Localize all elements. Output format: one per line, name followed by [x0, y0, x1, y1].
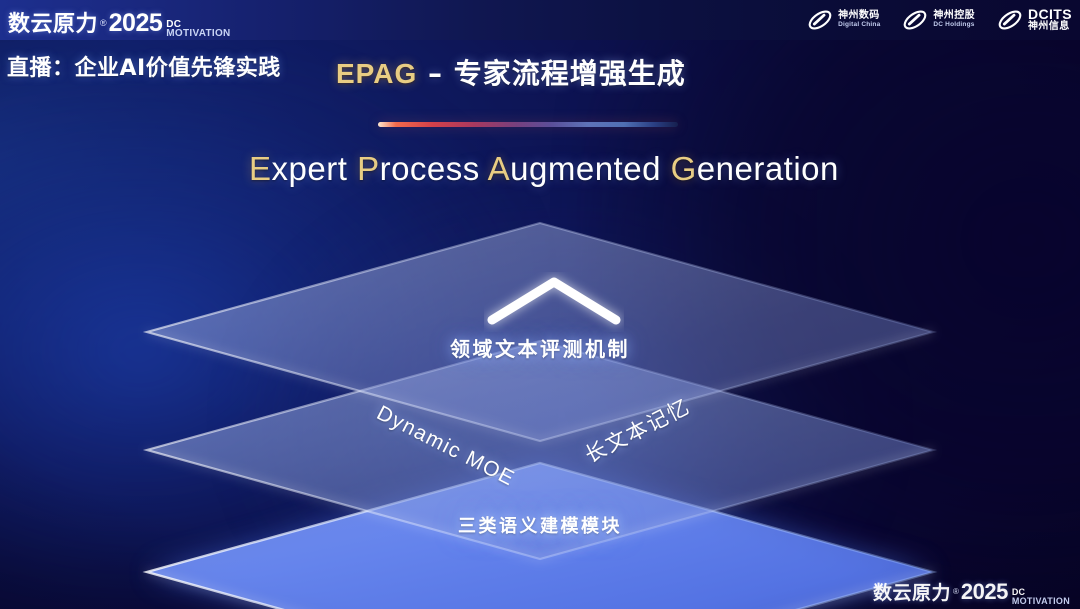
swirl-icon — [807, 7, 833, 33]
layer-top-plate — [147, 223, 933, 441]
partner-name-cn: 神州信息 — [1028, 22, 1072, 32]
subtitle-cap-a: A — [488, 150, 511, 187]
brand-motivation: MOTIVATION — [166, 29, 230, 38]
partner-name-en: DC Holdings — [933, 22, 975, 29]
brand-name-cn: 数云原力 — [8, 6, 98, 38]
swirl-icon — [902, 7, 928, 33]
brand-logo: 数云原力 ® 2025 DC MOTIVATION — [8, 6, 231, 38]
brand-name-cn: 数云原力 — [873, 578, 951, 605]
brand-registered: ® — [100, 18, 107, 28]
brand-watermark: 数云原力 ® 2025 DC MOTIVATION — [873, 578, 1070, 605]
swirl-icon — [997, 7, 1023, 33]
brand-registered: ® — [953, 587, 959, 596]
brand-year: 2025 — [961, 579, 1008, 605]
subtitle-cap-p: P — [357, 150, 380, 187]
subtitle-word-expert: xpert — [272, 150, 358, 187]
subtitle-word-generation: eneration — [697, 150, 839, 187]
slide-canvas: 数云原力 ® 2025 DC MOTIVATION 神州数码 Digital C… — [0, 0, 1080, 609]
subtitle-cap-e: E — [249, 150, 272, 187]
partner-logo-dcits: DCITS 神州信息 — [997, 7, 1072, 33]
slide-title-separator: – — [417, 57, 454, 90]
slide-subtitle: Expert Process Augmented Generation — [249, 150, 839, 188]
partner-name-en: DCITS — [1028, 7, 1072, 22]
slide-title-acronym: EPAG — [336, 58, 417, 89]
subtitle-word-augmented: ugmented — [510, 150, 670, 187]
title-divider — [378, 122, 678, 127]
subtitle-cap-g: G — [671, 150, 697, 187]
slide-title-cn: 专家流程增强生成 — [454, 57, 686, 90]
layered-stack-diagram — [80, 215, 1000, 605]
brand-motivation: MOTIVATION — [1012, 597, 1070, 605]
partner-logo-dc-holdings: 神州控股 DC Holdings — [902, 7, 975, 33]
partner-logo-digital-china: 神州数码 Digital China — [807, 7, 880, 33]
partner-logo-group: 神州数码 Digital China 神州控股 DC Holdings DCIT… — [807, 3, 1072, 37]
live-stream-title: 直播：企业AI价值先锋实践 — [7, 50, 281, 82]
partner-name-en: Digital China — [838, 22, 880, 29]
subtitle-word-process: rocess — [380, 150, 488, 187]
slide-title: EPAG – 专家流程增强生成 — [336, 52, 686, 92]
brand-year: 2025 — [109, 9, 163, 38]
